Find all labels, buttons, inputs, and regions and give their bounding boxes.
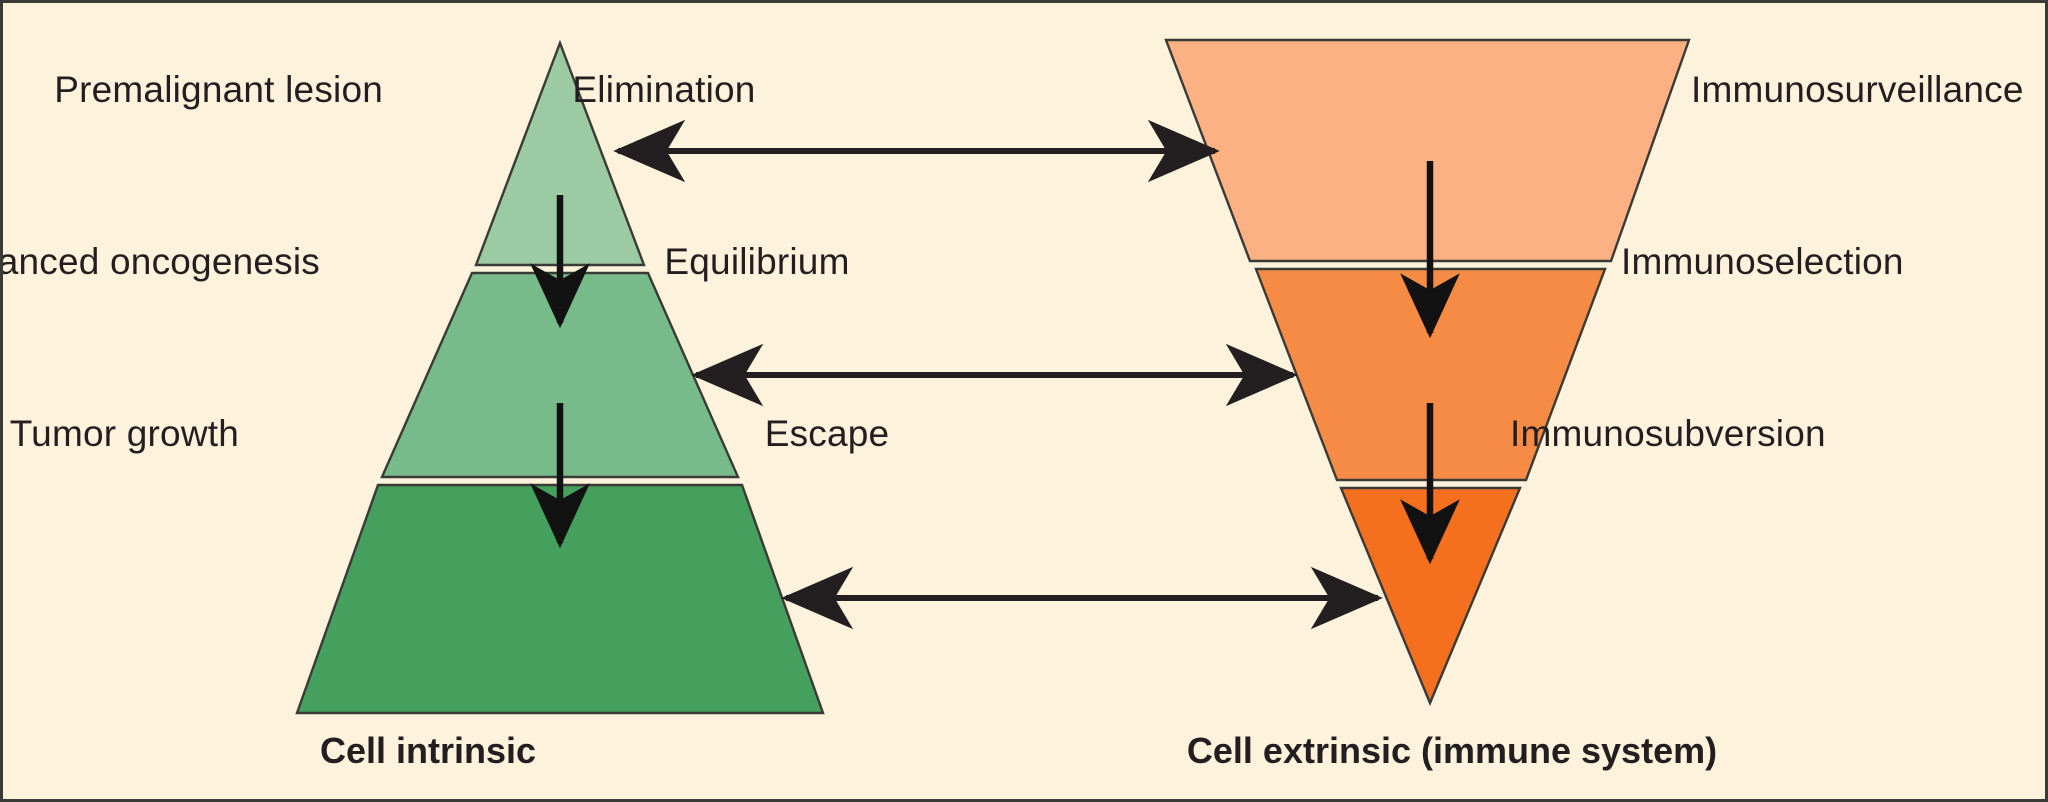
left-pyramid-caption: Cell intrinsic (3, 733, 853, 769)
connector-label-equilibrium-text: Equilibrium (664, 241, 849, 282)
connector-label-elimination-text: Elimination (572, 69, 755, 110)
connector-label-escape: Escape (3, 415, 2048, 452)
connector-label-escape-text: Escape (765, 413, 890, 454)
figure-canvas: Premalignant lesion Advanced oncogenesis… (0, 0, 2048, 802)
connector-label-equilibrium: Equilibrium (3, 243, 2048, 280)
right-pyramid-shape (1166, 40, 1689, 703)
connector-label-elimination: Elimination (3, 71, 2048, 108)
right-pyramid-caption: Cell extrinsic (immune system) (853, 733, 2048, 769)
diagram-svg (3, 3, 2048, 802)
